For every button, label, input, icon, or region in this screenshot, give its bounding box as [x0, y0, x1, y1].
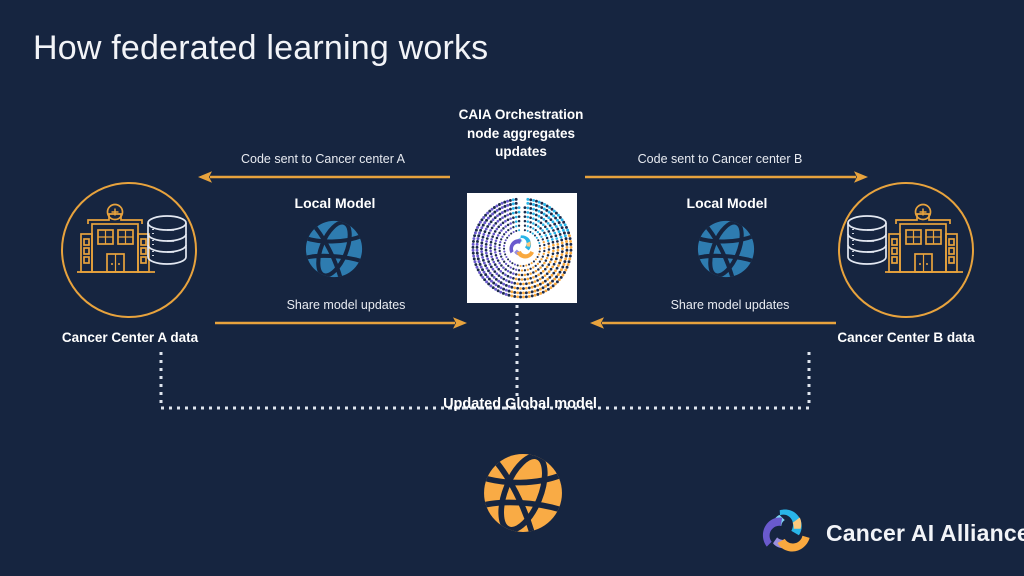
- globe-icon: [303, 218, 365, 280]
- globe-icon: [480, 450, 566, 536]
- hospital-icon: [77, 205, 155, 273]
- updated-global-model-globe: [480, 450, 566, 536]
- database-icon: [148, 216, 186, 264]
- database-icon: [848, 216, 886, 264]
- updated-global-model-label: Updated Global model: [440, 394, 600, 415]
- arrow-share-updates-a: [215, 315, 469, 331]
- caia-trefoil-hands-icon: [758, 505, 814, 561]
- caia-node-caption: CAIA Orchestration node aggregates updat…: [447, 106, 595, 162]
- arrow-label-code-a: Code sent to Cancer center A: [203, 152, 443, 166]
- cancer-center-a-label: Cancer Center A data: [0, 330, 260, 345]
- globe-icon: [695, 218, 757, 280]
- arrow-label-share-b: Share model updates: [600, 298, 860, 312]
- slide-root: How federated learning works CAIA Orches…: [0, 0, 1024, 576]
- arrow-code-to-center-b: [585, 169, 870, 185]
- caia-dotted-rings-icon: [467, 193, 577, 303]
- brand-name: Cancer AI Alliance: [826, 520, 1024, 547]
- arrow-share-updates-b: [588, 315, 836, 331]
- hospital-icon: [885, 205, 963, 273]
- page-title: How federated learning works: [33, 29, 488, 68]
- hospital-database-group-a: [63, 184, 194, 315]
- local-model-globe-b: [695, 218, 757, 280]
- caia-orchestration-node[interactable]: [467, 193, 577, 303]
- cancer-center-a-circle[interactable]: [61, 182, 197, 318]
- database-hospital-group-b: [840, 184, 971, 315]
- local-model-label-a: Local Model: [255, 195, 415, 211]
- brand-footer: Cancer AI Alliance: [758, 505, 1024, 561]
- local-model-label-b: Local Model: [647, 195, 807, 211]
- local-model-globe-a: [303, 218, 365, 280]
- arrow-label-code-b: Code sent to Cancer center B: [600, 152, 840, 166]
- arrow-code-to-center-a: [196, 169, 450, 185]
- cancer-center-b-label: Cancer Center B data: [776, 330, 1024, 345]
- arrow-label-share-a: Share model updates: [216, 298, 476, 312]
